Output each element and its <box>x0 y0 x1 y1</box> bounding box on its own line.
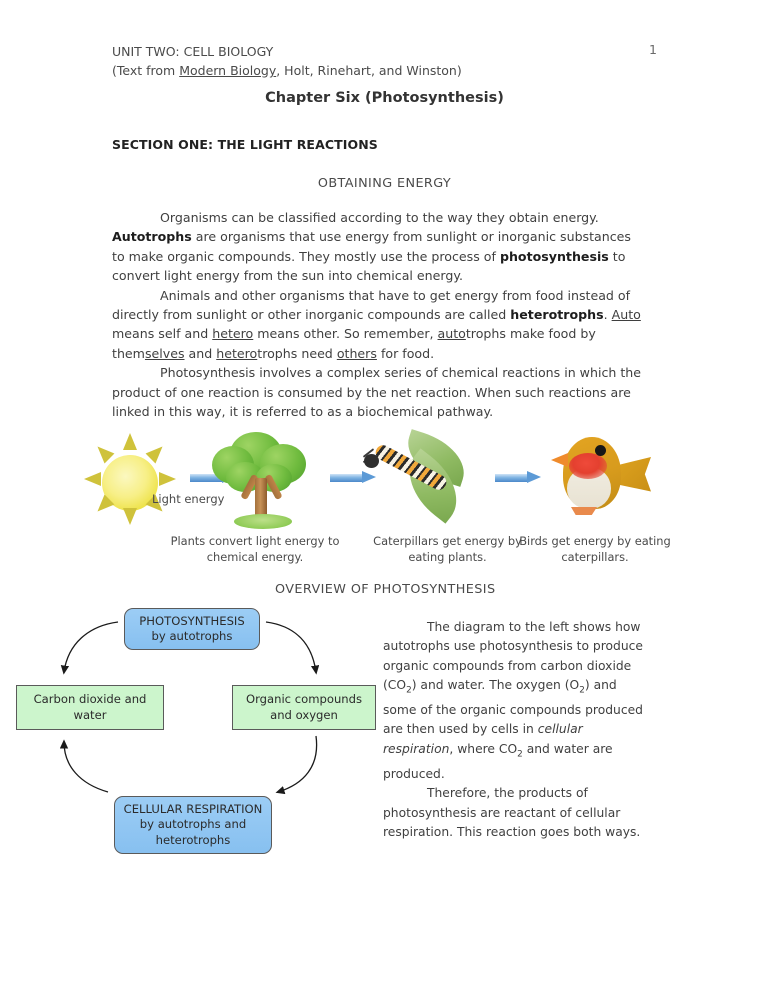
page-number: 1 <box>649 42 657 57</box>
text-run: for food. <box>377 346 434 361</box>
tree-icon <box>208 430 316 535</box>
source-prefix: (Text from <box>112 63 179 78</box>
node-line-2: by autotrophs <box>152 629 233 645</box>
unit-line: UNIT TWO: CELL BIOLOGY <box>112 42 657 61</box>
caption-caterpillars: Caterpillars get energy by eating plants… <box>355 534 540 565</box>
food-chain-illustration: Light energy <box>0 432 768 577</box>
term-photosynthesis: photosynthesis <box>500 249 609 264</box>
text-run: , where CO <box>449 742 517 756</box>
term-heterotrophs: heterotrophs <box>510 307 603 322</box>
node-line-1: PHOTOSYNTHESIS <box>139 614 244 630</box>
arrow-respiration-to-co2 <box>64 742 108 792</box>
cycle-node-photosynthesis: PHOTOSYNTHESIS by autotrophs <box>124 608 260 650</box>
bird-foot <box>571 507 597 515</box>
node-line-2: and oxygen <box>270 708 338 724</box>
underline-auto-2: auto <box>438 326 466 341</box>
underline-selves: selves <box>145 346 185 361</box>
document-page: UNIT TWO: CELL BIOLOGY (Text from Modern… <box>0 0 768 994</box>
bird-eye <box>595 445 606 456</box>
caption-birds: Birds get energy by eating caterpillars. <box>515 534 675 565</box>
arrow-photosynthesis-to-co2 <box>64 622 118 672</box>
paragraph-conclusion: Therefore, the products of photosynthesi… <box>383 784 651 842</box>
chapter-title: Chapter Six (Photosynthesis) <box>112 90 657 106</box>
underline-hetero-2: hetero <box>216 346 257 361</box>
arrow-organic-to-respiration <box>278 736 317 792</box>
text-run: . <box>604 307 612 322</box>
text-run: means other. So remember, <box>253 326 437 341</box>
section-heading: SECTION ONE: THE LIGHT REACTIONS <box>112 137 378 152</box>
caterpillar-on-leaf-icon <box>360 434 480 534</box>
text-run: means self and <box>112 326 212 341</box>
node-line-1: Organic compounds <box>246 692 362 708</box>
paragraph-biochemical-pathway: Photosynthesis involves a complex series… <box>112 363 645 421</box>
term-autotrophs: Autotrophs <box>112 229 192 244</box>
overview-heading: OVERVIEW OF PHOTOSYNTHESIS <box>275 582 495 597</box>
caterpillar-head <box>364 454 379 468</box>
bird-breast <box>569 453 607 479</box>
bird-beak <box>551 453 568 467</box>
tree-ground <box>234 514 292 529</box>
paragraph-autotrophs: Organisms can be classified according to… <box>112 208 645 286</box>
cycle-node-carbon-dioxide-water: Carbon dioxide and water <box>16 685 164 730</box>
arrow-photosynthesis-to-organic <box>266 622 316 672</box>
right-arrow-icon <box>495 471 541 484</box>
source-suffix: , Holt, Rinehart, and Winston) <box>276 63 462 78</box>
underline-hetero: hetero <box>212 326 253 341</box>
text-run: ) and water. The oxygen (O <box>412 678 580 692</box>
paragraph-heterotrophs: Animals and other organisms that have to… <box>112 286 645 364</box>
node-line-2: water <box>73 708 106 724</box>
diagram-explanation-column: The diagram to the left shows how autotr… <box>383 618 651 842</box>
cycle-node-organic-compounds-oxygen: Organic compounds and oxygen <box>232 685 376 730</box>
source-line: (Text from Modern Biology, Holt, Rinehar… <box>112 61 657 80</box>
underline-others: others <box>337 346 377 361</box>
body-text-column: Organisms can be classified according to… <box>112 208 645 421</box>
underline-auto: Auto <box>612 307 641 322</box>
paragraph-diagram-explanation: The diagram to the left shows how autotr… <box>383 618 651 784</box>
text-run: trophs need <box>257 346 337 361</box>
bird-icon <box>545 427 655 537</box>
cycle-node-cellular-respiration: CELLULAR RESPIRATION by autotrophs and h… <box>114 796 272 854</box>
node-line-3: heterotrophs <box>156 833 231 849</box>
page-header: UNIT TWO: CELL BIOLOGY (Text from Modern… <box>112 42 657 80</box>
source-book-title: Modern Biology <box>179 63 276 78</box>
node-line-1: Carbon dioxide and <box>34 692 147 708</box>
subsection-heading: OBTAINING ENERGY <box>112 176 657 191</box>
text-run: Organisms can be classified according to… <box>160 210 599 225</box>
node-line-1: CELLULAR RESPIRATION <box>124 802 263 818</box>
text-run: and <box>185 346 217 361</box>
node-line-2: by autotrophs and <box>140 817 246 833</box>
photosynthesis-cycle-diagram: PHOTOSYNTHESIS by autotrophs Carbon diox… <box>0 600 370 870</box>
caption-plants: Plants convert light energy to chemical … <box>150 534 360 565</box>
sun-icon <box>75 437 185 532</box>
